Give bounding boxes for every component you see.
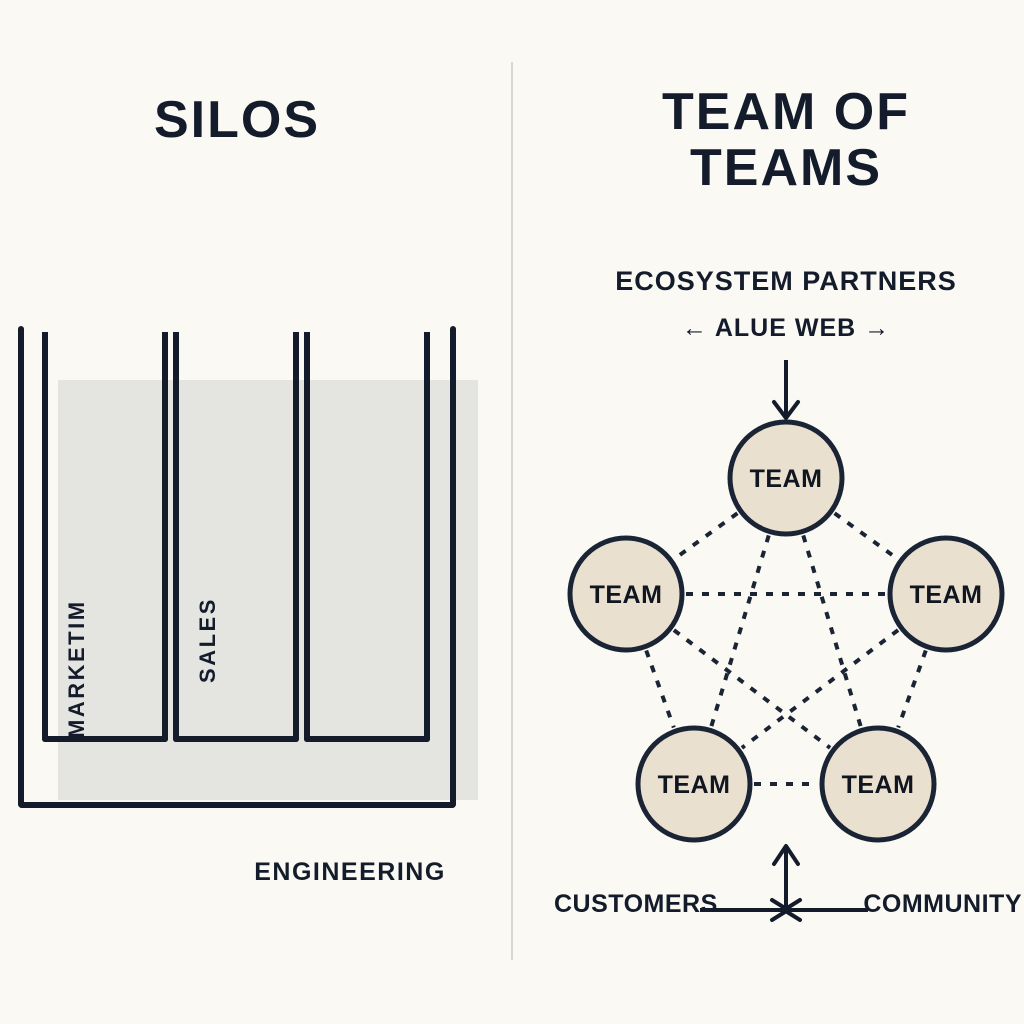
team-node-team-left[interactable]: TEAM — [570, 538, 682, 650]
team-node-team-bottom-right[interactable]: TEAM — [822, 728, 934, 840]
team-connection-team-top-to-team-bottom-left — [711, 535, 768, 726]
team-node-label: TEAM — [842, 771, 915, 799]
silos-panel-title: SILOS — [0, 92, 474, 148]
silos-caption-engineering: ENGINEERING — [180, 858, 520, 887]
team-network-nodes: TEAMTEAMTEAMTEAMTEAM — [570, 422, 1002, 840]
team-connection-team-top-to-team-bottom-right — [803, 535, 860, 726]
team-of-teams-panel-title: TEAM OF TEAMS — [548, 84, 1024, 196]
team-of-teams-diagram: ECOSYSTEM PARTNERS ← ALUE WEB → TEAMTEAM… — [548, 250, 1024, 950]
team-node-label: TEAM — [658, 771, 731, 799]
team-node-label: TEAM — [910, 581, 983, 609]
diagram-canvas: SILOS TEAM OF TEAMS MARKETIM SALES ENGIN… — [0, 0, 1024, 1024]
team-node-team-top[interactable]: TEAM — [730, 422, 842, 534]
team-node-team-bottom-left[interactable]: TEAM — [638, 728, 750, 840]
panel-divider — [511, 62, 513, 960]
community-label: COMMUNITY — [863, 890, 1022, 919]
silos-diagram: MARKETIM SALES — [18, 332, 456, 808]
customers-label: CUSTOMERS — [554, 890, 718, 919]
silo-label-sales: SALES — [195, 577, 221, 703]
silo-box-1 — [42, 332, 168, 742]
team-node-label: TEAM — [590, 581, 663, 609]
team-connection-team-top-to-team-left — [675, 513, 738, 559]
team-connection-team-top-to-team-right — [835, 513, 898, 559]
silo-label-marketim: MARKETIM — [64, 612, 90, 738]
team-connection-team-right-to-team-bottom-right — [898, 650, 926, 727]
team-network-svg: TEAMTEAMTEAMTEAMTEAM — [548, 250, 1024, 950]
silo-box-2 — [173, 332, 299, 742]
team-connection-team-left-to-team-bottom-left — [646, 650, 674, 727]
team-node-team-right[interactable]: TEAM — [890, 538, 1002, 650]
team-of-teams-title-line2: TEAMS — [548, 140, 1024, 196]
team-node-label: TEAM — [750, 465, 823, 493]
team-of-teams-title-line1: TEAM OF — [548, 84, 1024, 140]
network-bottom-labels: CUSTOMERS COMMUNITY — [548, 890, 1024, 930]
silo-box-3 — [304, 332, 430, 742]
